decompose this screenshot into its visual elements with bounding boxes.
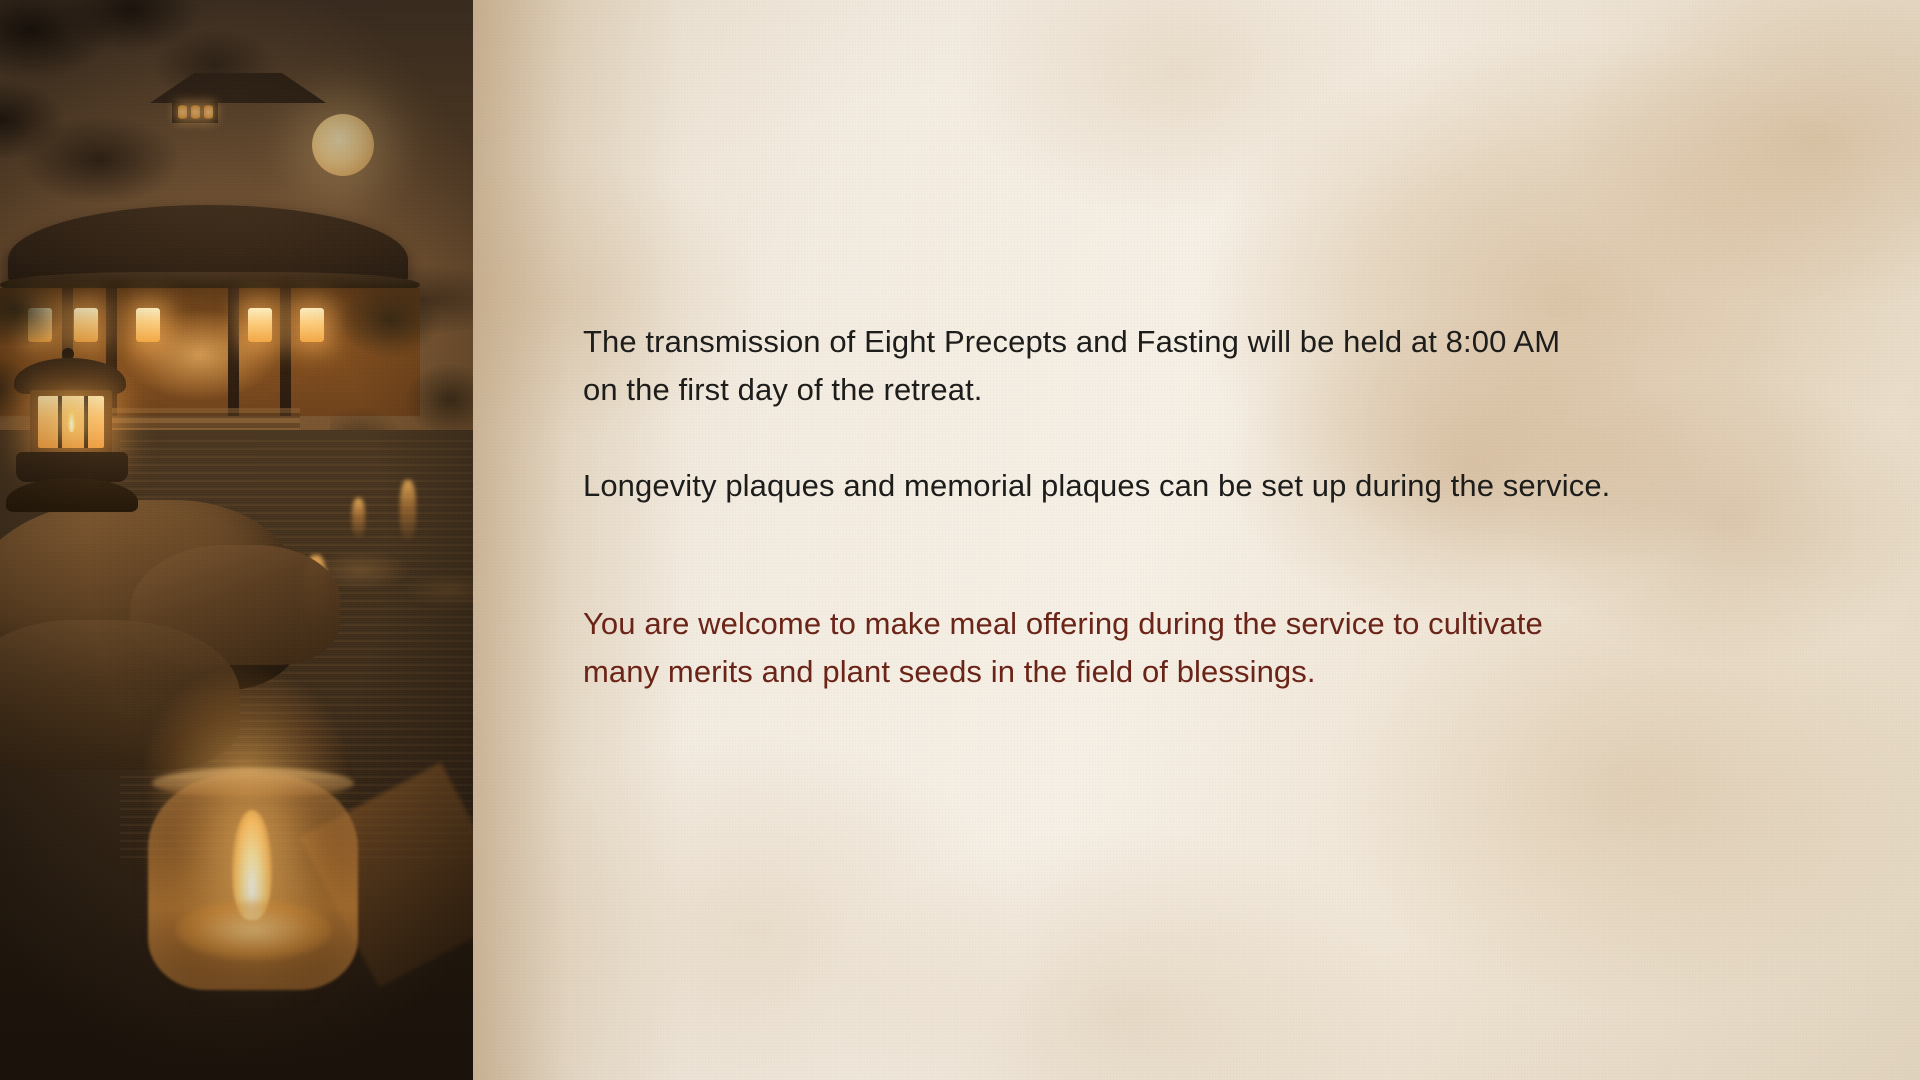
far-bank-rocks xyxy=(300,520,473,630)
candle-flame-icon xyxy=(232,810,272,920)
pond-water xyxy=(0,430,473,1080)
night-temple-lantern-photo xyxy=(0,0,473,1080)
shore-rock xyxy=(0,500,300,690)
pavilion-steps xyxy=(100,408,300,446)
candle-wax-pool xyxy=(176,900,332,960)
foliage-left xyxy=(0,250,120,460)
hanging-lantern xyxy=(28,308,52,342)
slide-canvas: The transmission of Eight Precepts and F… xyxy=(0,0,1920,1080)
paragraph-plaques-notice: Longevity plaques and memorial plaques c… xyxy=(583,462,1863,510)
pavilion-pillar xyxy=(62,288,73,416)
candle-flame-icon xyxy=(67,406,76,432)
candle-glass-jar xyxy=(148,775,358,990)
pavilion-eave xyxy=(0,272,420,288)
paragraph-meal-offering-notice: You are welcome to make meal offering du… xyxy=(583,600,1863,696)
pavilion-pillar xyxy=(280,288,291,416)
shore-rock xyxy=(130,545,340,665)
stone-lantern-foot xyxy=(6,478,138,512)
hanging-lantern xyxy=(300,308,324,342)
foliage-right xyxy=(330,250,473,480)
pagoda-window xyxy=(191,105,200,119)
photo-vignette xyxy=(0,0,473,1080)
stone-lantern-mullion xyxy=(58,396,62,448)
stone-lantern-roof xyxy=(14,358,126,394)
hanging-lantern xyxy=(136,308,160,342)
pavilion-interior-glow xyxy=(110,300,290,410)
candle-jar-rim xyxy=(152,768,354,798)
pagoda-window xyxy=(204,105,213,119)
hanging-lantern xyxy=(248,308,272,342)
water-reflection xyxy=(262,545,284,623)
stone-lantern-base xyxy=(16,452,128,482)
pagoda-window xyxy=(178,105,187,119)
tree-canopy xyxy=(0,0,290,300)
stone-lantern-mullion xyxy=(84,396,88,448)
stone-lantern-finial xyxy=(62,348,74,360)
water-reflection xyxy=(400,480,416,540)
shore-rock xyxy=(0,620,240,770)
hill-ridge xyxy=(0,150,473,350)
water-ripples xyxy=(120,440,473,860)
pavilion-pillar xyxy=(106,288,117,416)
water-reflection xyxy=(352,498,365,538)
candle-jar-glow xyxy=(95,610,395,940)
stone-lantern-light xyxy=(38,396,104,448)
pavilion-glow xyxy=(0,280,430,430)
pavilion-pillar xyxy=(228,288,239,416)
announcement-text-block: The transmission of Eight Precepts and F… xyxy=(583,318,1863,696)
wooden-plank xyxy=(299,762,473,987)
hilltop-pagoda-roof xyxy=(150,73,326,103)
moon-icon xyxy=(312,114,374,176)
hanging-lantern xyxy=(74,308,98,342)
hilltop-pagoda-body xyxy=(172,101,218,123)
pavilion-body xyxy=(0,288,420,416)
water-reflection xyxy=(146,545,168,620)
pavilion-roof xyxy=(8,205,408,283)
photo-film-grain xyxy=(0,0,473,1080)
water-reflection xyxy=(205,535,227,625)
stone-lantern-housing xyxy=(30,390,112,454)
water-reflection xyxy=(305,555,327,627)
dusk-sky xyxy=(0,0,473,520)
paragraph-precepts-notice: The transmission of Eight Precepts and F… xyxy=(583,318,1863,414)
